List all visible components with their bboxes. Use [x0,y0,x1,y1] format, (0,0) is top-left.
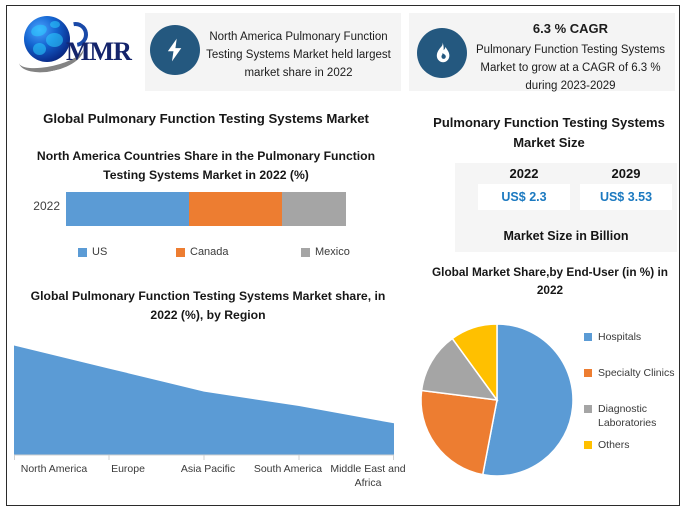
end-user-pie-chart [419,322,575,478]
legend-swatch-specialty-clinics [584,369,592,377]
legend-swatch-diagnostic-laboratories [584,405,592,413]
region-chart-title: Global Pulmonary Function Testing System… [18,287,398,325]
legend-item-us: US [78,246,107,258]
market-size-year-2029-label: 2029 [583,166,669,181]
stacked-bar [66,192,346,226]
bar-segment-canada [189,192,281,226]
bar-segment-us [66,192,189,226]
legend-label-diagnostic-laboratories: Diagnostic Laboratories [598,402,684,430]
market-size-value-2029: US$ 3.53 [580,184,672,210]
axis-label-south-america: South America [246,462,330,476]
legend-item-specialty-clinics: Specialty Clinics [584,366,674,380]
axis-label-europe: Europe [86,462,170,476]
end-user-chart-title: Global Market Share,by End-User (in %) i… [424,263,676,299]
bar-category-label: 2022 [12,199,60,213]
legend-item-diagnostic-laboratories: Diagnostic Laboratories [584,402,684,430]
market-size-footer: Market Size in Billion [455,229,677,243]
mmr-logo[interactable]: MMR [18,10,142,72]
north-america-chart-title: North America Countries Share in the Pul… [28,147,384,185]
legend-swatch-us [78,248,87,257]
region-area-chart [14,330,394,460]
legend-item-canada: Canada [176,246,229,258]
legend-label-specialty-clinics: Specialty Clinics [598,366,674,380]
legend-swatch-others [584,441,592,449]
legend-item-others: Others [584,438,630,452]
legend-item-hospitals: Hospitals [584,330,641,344]
stacked-bar-legend: US Canada Mexico [66,246,366,264]
infographic-canvas: MMR North America Pulmonary Function Tes… [0,0,687,512]
axis-label-middle-east-africa: Middle East and Africa [326,462,410,490]
lightning-bolt-icon [150,25,200,75]
page-title: Global Pulmonary Function Testing System… [10,111,402,126]
logo-text: MMR [66,37,131,67]
legend-label-others: Others [598,438,630,452]
legend-swatch-canada [176,248,185,257]
flame-icon [417,28,467,78]
cagr-description: Pulmonary Function Testing Systems Marke… [476,44,665,92]
market-size-year-2022-label: 2022 [481,166,567,181]
cagr-headline: 6.3 % CAGR [466,20,675,38]
left-banner-text: North America Pulmonary Function Testing… [196,28,401,82]
legend-swatch-mexico [301,248,310,257]
legend-item-mexico: Mexico [301,246,350,258]
market-size-title: Pulmonary Function Testing Systems Marke… [420,113,678,153]
legend-label-hospitals: Hospitals [598,330,641,344]
legend-swatch-hospitals [584,333,592,341]
region-axis-labels: North America Europe Asia Pacific South … [14,462,396,504]
legend-label-us: US [92,246,107,258]
market-size-value-2022: US$ 2.3 [478,184,570,210]
axis-label-asia-pacific: Asia Pacific [166,462,250,476]
bar-segment-mexico [282,192,346,226]
right-banner-text: 6.3 % CAGR Pulmonary Function Testing Sy… [466,20,675,95]
axis-label-north-america: North America [12,462,96,476]
legend-label-canada: Canada [190,246,229,258]
legend-label-mexico: Mexico [315,246,350,258]
